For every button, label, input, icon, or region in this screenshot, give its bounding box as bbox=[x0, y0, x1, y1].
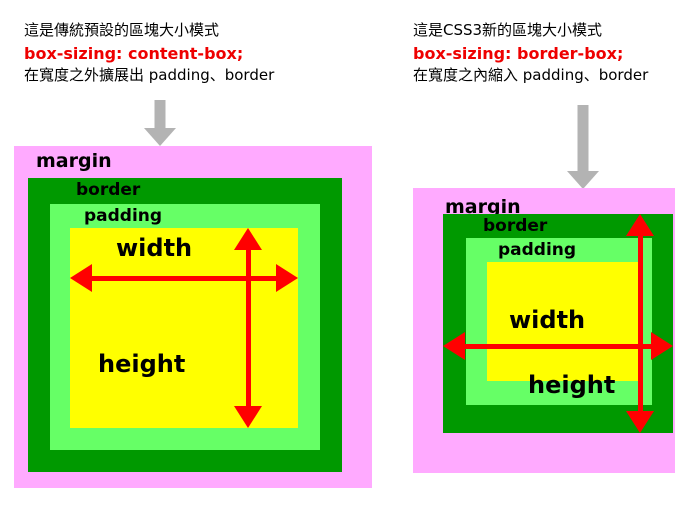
border-label: border bbox=[483, 216, 547, 236]
content-box-caption: 這是傳統預設的區塊大小模式 box-sizing: content-box; 在… bbox=[24, 20, 274, 87]
arrow-head bbox=[144, 128, 176, 146]
border-box-height-arrow bbox=[626, 214, 654, 433]
border-box-margin-area: margin border padding width bbox=[413, 188, 675, 473]
arrow-shaft bbox=[638, 224, 643, 423]
border-box-caption: 這是CSS3新的區塊大小模式 box-sizing: border-box; 在… bbox=[413, 20, 648, 87]
arrow-shaft bbox=[155, 100, 166, 130]
content-box-height-arrow bbox=[234, 228, 262, 428]
arrow-head-bottom bbox=[626, 411, 654, 433]
down-arrow-icon bbox=[563, 105, 603, 189]
border-box-panel: 這是CSS3新的區塊大小模式 box-sizing: border-box; 在… bbox=[400, 0, 700, 514]
content-box-border-area: border padding width bbox=[28, 178, 342, 472]
caption-line-description: 這是傳統預設的區塊大小模式 bbox=[24, 20, 274, 42]
width-label: width bbox=[509, 306, 585, 334]
height-label: height bbox=[98, 350, 185, 378]
padding-label: padding bbox=[498, 240, 576, 260]
arrow-head-right bbox=[651, 332, 673, 360]
content-box-margin-area: margin border padding width bbox=[14, 146, 372, 488]
caption-line-declaration: box-sizing: content-box; bbox=[24, 42, 274, 65]
content-box-content-area: width height bbox=[70, 228, 298, 428]
height-label: height bbox=[528, 371, 615, 399]
caption-line-explanation: 在寬度之外擴展出 padding、border bbox=[24, 65, 274, 87]
content-box-panel: 這是傳統預設的區塊大小模式 box-sizing: content-box; 在… bbox=[0, 0, 400, 514]
arrow-shaft bbox=[246, 238, 251, 418]
border-label: border bbox=[76, 180, 140, 200]
arrow-head-bottom bbox=[234, 406, 262, 428]
border-box-border-area: border padding width height bbox=[443, 214, 673, 433]
caption-line-explanation: 在寬度之內縮入 padding、border bbox=[413, 65, 648, 87]
down-arrow-icon bbox=[140, 100, 180, 146]
content-box-width-arrow bbox=[70, 264, 298, 292]
padding-label: padding bbox=[84, 206, 162, 226]
arrow-head-right bbox=[276, 264, 298, 292]
width-label: width bbox=[116, 234, 192, 262]
margin-label: margin bbox=[36, 150, 112, 172]
box-sizing-illustration: { "left": { "caption": { "line1": "這是傳統預… bbox=[0, 0, 700, 514]
arrow-shaft bbox=[578, 105, 589, 173]
content-box-padding-area: padding width h bbox=[50, 204, 320, 450]
arrow-head bbox=[567, 171, 599, 189]
caption-line-description: 這是CSS3新的區塊大小模式 bbox=[413, 20, 648, 42]
caption-line-declaration: box-sizing: border-box; bbox=[413, 42, 648, 65]
